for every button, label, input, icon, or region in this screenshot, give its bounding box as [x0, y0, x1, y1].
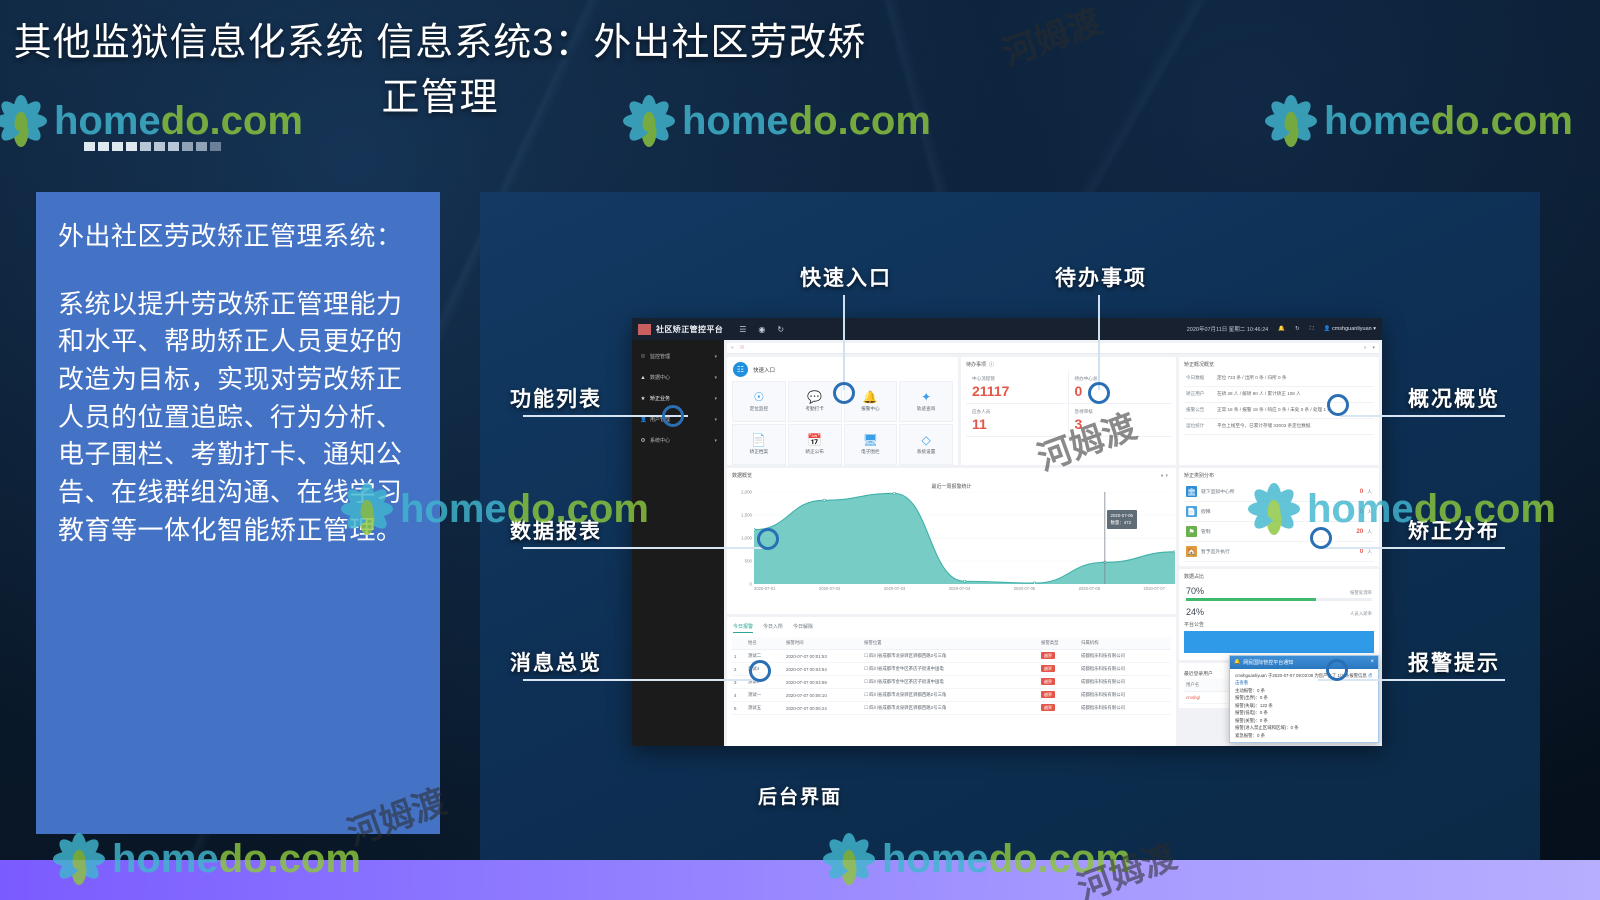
table-row[interactable]: 1测试二2020-07-07 00:01:53☐ 四川省成都市龙泉驿区驿都西路2…	[732, 650, 1171, 663]
dashboard-sidebar: ☉ 监控管理 ▾ ▲ 数据中心 ▾ ★ 矫正业务 ▾ 👤 用户管理 ▾ ⚙ 系	[632, 340, 724, 746]
distribution-name: 假释	[1201, 508, 1356, 515]
todo-label: 应办人员	[972, 409, 1062, 415]
td-type: 越界	[1039, 689, 1079, 702]
tabbar-expand-icon[interactable]: »	[1364, 345, 1367, 351]
monitor-icon: ☉	[640, 354, 646, 360]
y-tick: 500	[745, 559, 752, 564]
td-time: 2020-07-07 00:06:24	[784, 702, 862, 715]
th-index	[732, 637, 746, 650]
th-place: 报警位置	[862, 637, 1039, 650]
td-index: 5	[732, 702, 746, 715]
td-place: ☐ 四川省成都市金牛区茶店子街道中国电	[862, 676, 1039, 689]
todo-item[interactable]: 待办中心总 0	[1069, 371, 1172, 404]
chart-tooltip: 2020-07-06 数量：472	[1107, 510, 1137, 529]
tab-today-release[interactable]: 今日解除	[793, 623, 813, 633]
todo-value: 3	[1075, 417, 1166, 431]
chart-subtitle: 最近一周报警统计	[732, 483, 1171, 490]
chevron-down-icon: ▾	[714, 396, 717, 402]
flag-icon: ⚑	[1186, 526, 1197, 537]
chart-card-title: 数据概览	[732, 472, 1171, 479]
quick-entry-item-locate[interactable]: ☉ 定位监控	[732, 381, 786, 422]
quick-entry-item-settings[interactable]: ◇ 系统设置	[899, 424, 953, 465]
callout-dot	[662, 405, 684, 427]
quick-entry-item-file[interactable]: 📄 矫正档案	[732, 424, 786, 465]
locate-icon: ☉	[753, 391, 764, 403]
callout-label: 报警提示	[1408, 647, 1500, 677]
bottom-accent-strip	[0, 860, 1600, 900]
distribution-unit: 人	[1367, 508, 1372, 515]
tabbar-more-icon[interactable]: ▾	[1372, 345, 1375, 351]
callout-dot	[749, 660, 771, 682]
description-spacer	[58, 256, 418, 286]
platform-notice-banner	[1184, 631, 1374, 653]
x-tick: 2020-07-02	[819, 586, 840, 591]
table-row[interactable]: 2测试42020-07-07 00:04:54☐ 四川省成都市金牛区茶店子街道中…	[732, 663, 1171, 676]
callout-dot	[833, 382, 855, 404]
callout-label: 待办事项	[1055, 262, 1147, 292]
user-icon: 👤	[640, 417, 646, 423]
chart-y-axis: 0 500 1,000 1,500 2,000	[732, 492, 754, 584]
todo-label: 急待审核	[1075, 409, 1166, 415]
callout-dot	[1327, 394, 1349, 416]
table-row[interactable]: 3测试02020-07-07 00:04:59☐ 四川省成都市金牛区茶店子街道中…	[732, 676, 1171, 689]
callout-line	[523, 679, 765, 681]
dashboard-tabbar: « ☉ » ▾	[727, 343, 1379, 354]
track-icon: ✦	[921, 391, 931, 403]
progress-row: 70% 报警处理率	[1184, 583, 1374, 604]
td-org: 成都指乐科技有限公司	[1079, 702, 1171, 715]
quick-entry-label: 矫正档案	[750, 449, 768, 455]
td-place: ☐ 四川省成都市龙泉驿区驿都西路2号三角	[862, 650, 1039, 663]
info-icon: ⓘ	[989, 361, 994, 368]
todo-card: 待办事项 ⓘ 中心流程管 21117 待办中心总 0 应办人员	[961, 357, 1176, 465]
quick-entry-label: 定位监控	[750, 406, 768, 412]
publish-icon: 📅	[807, 434, 822, 446]
description-panel: 外出社区劳改矫正管理系统： 系统以提升劳改矫正管理能力和水平、帮助矫正人员更好的…	[36, 192, 440, 834]
quick-entry-title: 快速入口	[753, 366, 775, 374]
doc-icon: 📄	[1186, 506, 1197, 517]
td-org: 成都指乐科技有限公司	[1079, 689, 1171, 702]
callout-line	[523, 547, 773, 549]
chevron-down-icon: ▾	[714, 417, 717, 423]
platform-notice-title: 平台公告	[1184, 621, 1374, 628]
footer-caption: 后台界面	[0, 782, 1600, 809]
x-tick: 2020-07-05	[1014, 586, 1035, 591]
progress-bar	[1186, 598, 1372, 601]
file-icon: 📄	[751, 434, 766, 446]
td-name: 测试五	[746, 702, 784, 715]
todo-label: 待办中心总	[1075, 376, 1166, 382]
overview-key: 报警公告	[1186, 407, 1212, 413]
td-index: 3	[732, 676, 746, 689]
distribution-row: 🏠 暂予监外执行 0 人	[1184, 542, 1374, 562]
callout-dot	[1088, 382, 1110, 404]
menu-icon[interactable]: ☰	[739, 325, 746, 334]
table-row[interactable]: 4测试一2020-07-07 00:06:10☐ 四川省成都市龙泉驿区驿都西路2…	[732, 689, 1171, 702]
quick-entry-item-track[interactable]: ✦ 轨迹查询	[899, 381, 953, 422]
star-icon: ★	[640, 396, 646, 402]
x-tick: 2020-07-04	[949, 586, 970, 591]
callout-line	[843, 295, 845, 390]
distribution-value: 20	[1357, 529, 1364, 535]
tooltip-date: 2020-07-06	[1111, 513, 1133, 520]
tab-home[interactable]: ☉	[740, 345, 744, 351]
overview-card: 矫正概况概览 今日数据 定位 733 条 / 出所 0 条 / 归所 0 条 矫…	[1179, 357, 1379, 465]
td-type: 越界	[1039, 663, 1079, 676]
td-type: 越界	[1039, 676, 1079, 689]
td-org: 成都指乐科技有限公司	[1079, 650, 1171, 663]
overview-text: 在矫 28 人 / 解矫 80 人 / 累计矫正 108 人	[1217, 391, 1301, 398]
distribution-value: 0	[1360, 549, 1363, 555]
distribution-row: ⚑ 管制 20 人	[1184, 522, 1374, 542]
sidebar-item-label: 监控管理	[650, 353, 670, 360]
callout-dot	[1326, 659, 1348, 681]
alert-line: 紧急报警：0 条	[1235, 732, 1373, 739]
y-tick: 2,000	[741, 490, 752, 495]
alarm-table: 姓名 报警时间 报警位置 报警类型 归属机构 1测试二2020-07-07 00…	[732, 637, 1171, 715]
overview-title: 矫正概况概览	[1184, 361, 1374, 368]
chart-options-icon[interactable]: ●▾	[1160, 473, 1170, 479]
td-time: 2020-07-07 00:01:53	[784, 650, 862, 663]
td-type: 越界	[1039, 650, 1079, 663]
x-tick: 2020-07-01	[754, 586, 775, 591]
quick-entry-item-publish[interactable]: 📅 矫正公布	[788, 424, 842, 465]
td-place: ☐ 四川省成都市龙泉驿区驿都西路2号三角	[862, 702, 1039, 715]
distribution-row: 🏛 辖下监狱中心所 0 人	[1184, 482, 1374, 502]
progress-value: 24%	[1186, 607, 1204, 617]
title-decor-dashes	[84, 142, 221, 151]
fullscreen-icon[interactable]: ⛶	[1310, 326, 1314, 333]
chart-x-axis: 2020-07-01 2020-07-02 2020-07-03 2020-07…	[754, 586, 1165, 591]
y-tick: 1,000	[741, 536, 752, 541]
x-tick: 2020-07-06	[1079, 586, 1100, 591]
data-icon: ▲	[640, 375, 646, 381]
td-name: 测试一	[746, 689, 784, 702]
y-tick: 1,500	[741, 513, 752, 518]
callout-dot	[1310, 527, 1332, 549]
sidebar-item-data[interactable]: ▲ 数据中心 ▾	[632, 367, 724, 388]
dashboard-screenshot: 社区矫正管控平台 ☰ ◉ ↻ 2020年07月11日 星期二 10:46:24 …	[632, 318, 1382, 746]
table-row[interactable]: 5测试五2020-07-07 00:06:24☐ 四川省成都市龙泉驿区驿都西路2…	[732, 702, 1171, 715]
overview-row: 今日数据 定位 733 条 / 出所 0 条 / 归所 0 条	[1184, 371, 1374, 387]
close-icon[interactable]: ×	[1370, 659, 1374, 665]
distribution-name: 辖下监狱中心所	[1201, 488, 1356, 495]
fence-icon: 🖥	[863, 434, 878, 446]
chevron-down-icon: ▾	[714, 438, 717, 444]
distribution-value: 0	[1360, 509, 1363, 515]
tabbar-collapse-icon[interactable]: «	[731, 345, 734, 351]
th-org: 归属机构	[1079, 637, 1171, 650]
sidebar-item-monitor[interactable]: ☉ 监控管理 ▾	[632, 346, 724, 367]
distribution-unit: 人	[1367, 548, 1372, 555]
alert-line: 报警(进入禁止区域和区域)：0 条	[1235, 724, 1373, 731]
alert-line: 报警(低电)：0 条	[1235, 709, 1373, 716]
chevron-down-icon: ▾	[714, 354, 717, 360]
callout-label: 数据报表	[510, 515, 602, 545]
td-index: 2	[732, 663, 746, 676]
todo-item[interactable]: 急待审核 3	[1069, 404, 1172, 437]
attendance-icon: 💬	[807, 391, 822, 403]
callout-label: 快速入口	[800, 262, 892, 292]
th-time: 报警时间	[784, 637, 862, 650]
table-header-row: 姓名 报警时间 报警位置 报警类型 归属机构	[732, 637, 1171, 650]
td-index: 4	[732, 689, 746, 702]
sidebar-item-label: 矫正业务	[650, 395, 670, 402]
dashboard-header: 社区矫正管控平台 ☰ ◉ ↻ 2020年07月11日 星期二 10:46:24 …	[632, 318, 1382, 340]
callout-label: 矫正分布	[1408, 515, 1500, 545]
callout-line	[1320, 547, 1505, 549]
alarm-table-card: 今日报警 今日入所 今日解除 姓名 报警时间 报警位置 报警类型	[727, 617, 1176, 746]
overview-key: 矫正用户	[1186, 391, 1212, 397]
quick-entry-label: 考勤打卡	[805, 406, 823, 412]
tab-today-alarm[interactable]: 今日报警	[733, 623, 753, 633]
th-name: 姓名	[746, 637, 784, 650]
gear-icon: ⚙	[640, 438, 646, 444]
callout-label: 概况概览	[1408, 383, 1500, 413]
td-index: 1	[732, 650, 746, 663]
progress-label: 人员入矫率	[1350, 611, 1372, 617]
callout-label: 消息总览	[510, 647, 602, 677]
td-org: 成都指乐科技有限公司	[1079, 676, 1171, 689]
quick-entry-label: 轨迹查询	[917, 406, 935, 412]
todo-item[interactable]: 中心流程管 21117	[966, 371, 1069, 404]
sidebar-item-system[interactable]: ⚙ 系统中心 ▾	[632, 430, 724, 451]
chevron-down-icon: ▾	[714, 375, 717, 381]
overview-row: 运位统计 平台上线至今，已累计存储 33003 条定位数据	[1184, 419, 1374, 435]
alarm-icon: 🔔	[863, 391, 878, 403]
distribution-row: 📄 假释 0 人	[1184, 502, 1374, 522]
distribution-unit: 人	[1367, 528, 1372, 535]
sync-icon[interactable]: ↻	[1295, 326, 1300, 332]
alert-popup[interactable]: 🔔 网民国际管控平台通知 × cmshguanliyuan 于2020-07-0…	[1229, 655, 1379, 743]
quick-entry-label: 电子围栏	[861, 449, 879, 455]
alert-line: 报警(出界)：0 条	[1235, 694, 1373, 701]
overview-text: 平台上线至今，已累计存储 33003 条定位数据	[1217, 423, 1310, 430]
sidebar-item-label: 数据中心	[650, 374, 670, 381]
bank-icon: 🏛	[1186, 486, 1197, 497]
distribution-card: 矫正类别分布 🏛 辖下监狱中心所 0 人 📄 假释 0 人	[1179, 468, 1379, 566]
td-type: 越界	[1039, 702, 1079, 715]
description-heading: 外出社区劳改矫正管理系统：	[58, 218, 418, 256]
progress-label: 报警处理率	[1350, 590, 1372, 596]
progress-value: 70%	[1186, 586, 1204, 596]
chart-plot-area: 0 500 1,000 1,500 2,000 2020-07-06 数量：47…	[732, 492, 1171, 604]
platform-notice-card: 平台公告	[1179, 617, 1379, 660]
progress-title: 数据占比	[1184, 573, 1374, 580]
distribution-name: 暂予监外执行	[1201, 548, 1356, 555]
td-time: 2020-07-07 00:06:10	[784, 689, 862, 702]
quick-entry-logo-icon: ☷	[733, 362, 748, 377]
quick-entry-label: 矫正公布	[805, 449, 823, 455]
quick-entry-label: 报警中心	[861, 406, 879, 412]
page-title: 其他监狱信息化系统 信息系统3：外出社区劳改矫正管理	[0, 16, 880, 126]
tab-today-in[interactable]: 今日入所	[763, 623, 783, 633]
refresh-icon[interactable]: ↻	[777, 325, 784, 334]
distribution-value: 0	[1360, 489, 1363, 495]
user-menu[interactable]: 👤 cmshguanliyuan ▾	[1324, 326, 1376, 332]
alert-line: 主动报警：0 条	[1235, 687, 1373, 694]
td-org: 成都指乐科技有限公司	[1079, 663, 1171, 676]
quick-entry-label: 系统设置	[917, 449, 935, 455]
th-type: 报警类型	[1039, 637, 1079, 650]
distribution-title: 矫正类别分布	[1184, 472, 1374, 479]
bell-icon[interactable]: 🔔	[1278, 326, 1285, 332]
overview-text: 正常 18 条 / 报警 18 条 / 响应 0 条 / 未处 0 条 / 处理…	[1217, 407, 1332, 414]
alert-popup-title: 网民国际管控平台通知	[1243, 659, 1293, 666]
callout-line	[1098, 295, 1100, 390]
overview-key: 运位统计	[1186, 423, 1212, 429]
app-brand-title: 社区矫正管控平台	[656, 324, 723, 335]
callout-dot	[757, 528, 779, 550]
header-datetime: 2020年07月11日 星期二 10:46:24	[1187, 325, 1269, 333]
callout-line	[1340, 415, 1505, 417]
alert-popup-title-bar: 🔔 网民国际管控平台通知 ×	[1230, 656, 1378, 669]
alert-line: 报警(关警)：0 条	[1235, 717, 1373, 724]
overview-text: 定位 733 条 / 出所 0 条 / 归所 0 条	[1217, 375, 1286, 382]
sidebar-item-label: 系统中心	[650, 437, 670, 444]
todo-label: 中心流程管	[972, 376, 1062, 382]
td-time: 2020-07-07 00:04:59	[784, 676, 862, 689]
area-chart	[754, 492, 1175, 584]
todo-title: 待办事项	[966, 361, 986, 368]
overview-key: 今日数据	[1186, 375, 1212, 381]
td-time: 2020-07-07 00:04:54	[784, 663, 862, 676]
alarm-table-tabs: 今日报警 今日入所 今日解除	[732, 621, 1171, 637]
distribution-unit: 人	[1367, 488, 1372, 495]
callout-line	[1318, 679, 1505, 681]
tooltip-value: 数量：472	[1111, 520, 1133, 527]
y-tick: 0	[750, 582, 752, 587]
x-tick: 2020-07-07	[1144, 586, 1165, 591]
td-place: ☐ 四川省成都市龙泉驿区驿都西路2号三角	[862, 689, 1039, 702]
todo-item[interactable]: 应办人员 11	[966, 404, 1069, 437]
alert-line: 报警(失联)：122 条	[1235, 702, 1373, 709]
chart-card: 数据概览 ●▾ 最近一周报警统计 0 500 1,000 1,500 2,000	[727, 468, 1176, 614]
todo-value: 21117	[972, 384, 1062, 398]
x-tick: 2020-07-03	[884, 586, 905, 591]
home-icon: 🏠	[1186, 546, 1197, 557]
app-logo-icon	[638, 324, 651, 335]
notice-icon: 🔔	[1234, 659, 1240, 665]
settings-icon: ◇	[922, 434, 931, 446]
description-body: 系统以提升劳改矫正管理能力和水平、帮助矫正人员更好的改造为目标，实现对劳改矫正人…	[58, 286, 418, 550]
callout-label: 功能列表	[510, 383, 602, 413]
theme-icon[interactable]: ◉	[758, 325, 765, 334]
td-place: ☐ 四川省成都市金牛区茶店子街道中国电	[862, 663, 1039, 676]
quick-entry-item-fence[interactable]: 🖥 电子围栏	[844, 424, 898, 465]
todo-value: 11	[972, 417, 1062, 431]
